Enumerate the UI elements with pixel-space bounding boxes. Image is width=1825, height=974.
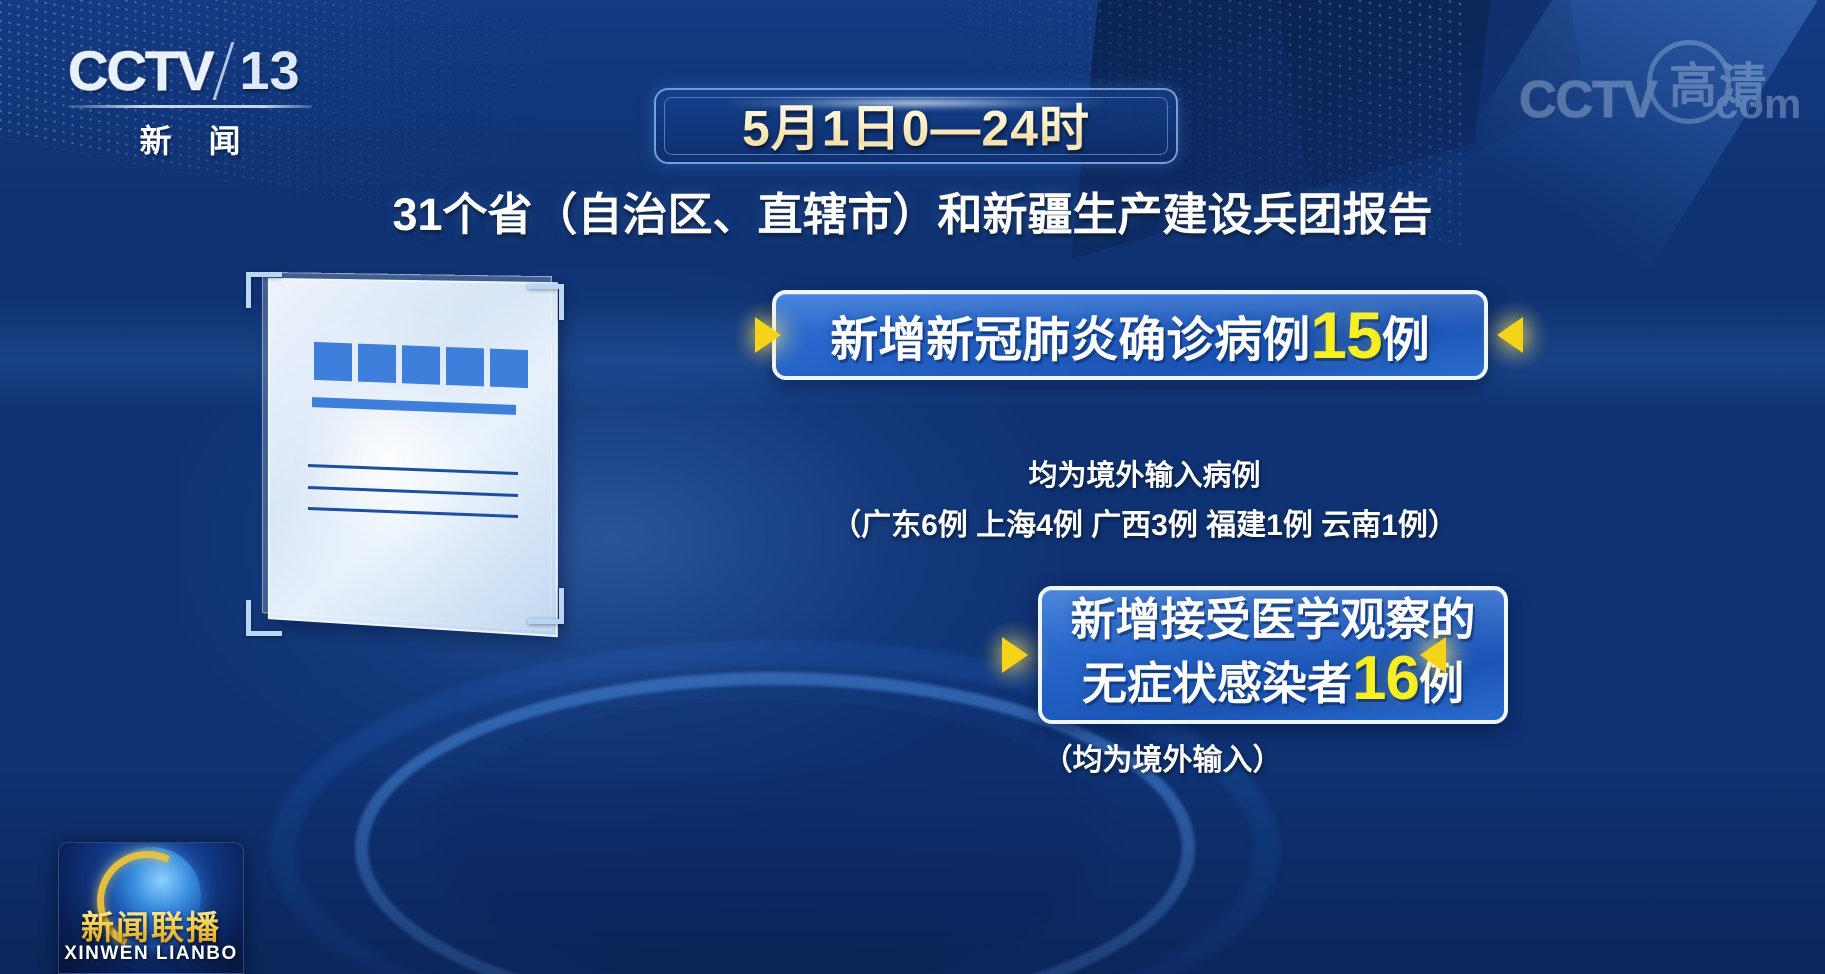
- document-block: [358, 344, 396, 383]
- cctv-underline: [68, 105, 312, 108]
- triangle-left-icon: [1420, 637, 1446, 673]
- cctv-wordmark: CCTV: [68, 38, 212, 103]
- document-block: [490, 349, 528, 388]
- watermark-cctv-text: CCTV: [1519, 70, 1657, 130]
- stat-label-confirmed: 新增新冠肺炎确诊病例: [830, 300, 1310, 370]
- broadcast-screen: CCTV 13 新 闻 高清 CCTV com 5月1日0—24时 31个省（自…: [0, 0, 1825, 974]
- note-province-breakdown: （广东6例 上海4例 广西3例 福建1例 云南1例）: [232, 500, 1825, 544]
- stat-box-confirmed-cases: 新增新冠肺炎确诊病例15例: [772, 290, 1488, 380]
- cctv-logo-row: CCTV 13: [68, 38, 318, 103]
- triangle-right-icon: [755, 317, 781, 353]
- program-name-chinese: 新闻联播: [59, 901, 243, 949]
- document-block: [446, 347, 484, 386]
- cctv-slash-divider: [213, 42, 235, 100]
- corner-bracket-top-right-icon: [528, 284, 564, 320]
- cctv-channel-label: 新 闻: [68, 116, 312, 162]
- stat-unit-confirmed: 例: [1382, 300, 1430, 370]
- cctv-com-watermark: 高清 CCTV com: [1519, 36, 1819, 136]
- date-range-text: 5月1日0—24时: [656, 89, 1176, 161]
- stat-label-asymptomatic-line2: 无症状感染者: [1082, 658, 1352, 709]
- triangle-right-icon: [1002, 637, 1028, 673]
- triangle-left-icon: [1497, 317, 1523, 353]
- background-bottom-vignette: [0, 764, 1825, 974]
- cctv13-channel-logo: CCTV 13 新 闻: [68, 38, 318, 158]
- report-document-graphic: [248, 268, 558, 628]
- program-name-pinyin: XINWEN LIANBO: [59, 943, 243, 965]
- corner-bracket-bottom-left-icon: [246, 600, 282, 636]
- note-asymptomatic-imported: （均为境外输入）: [0, 735, 1825, 779]
- document-block: [314, 342, 352, 381]
- watermark-com-text: com: [1715, 80, 1801, 128]
- xinwen-lianbo-logo: 新闻联播 XINWEN LIANBO: [58, 842, 244, 974]
- stat-value-confirmed: 15: [1310, 297, 1381, 373]
- cctv-channel-number: 13: [239, 40, 299, 102]
- page-title: 31个省（自治区、直辖市）和新疆生产建设兵团报告: [0, 178, 1825, 243]
- date-range-banner: 5月1日0—24时: [654, 88, 1178, 164]
- corner-bracket-top-left-icon: [246, 272, 282, 308]
- document-block: [402, 345, 440, 384]
- corner-bracket-bottom-right-icon: [528, 588, 564, 624]
